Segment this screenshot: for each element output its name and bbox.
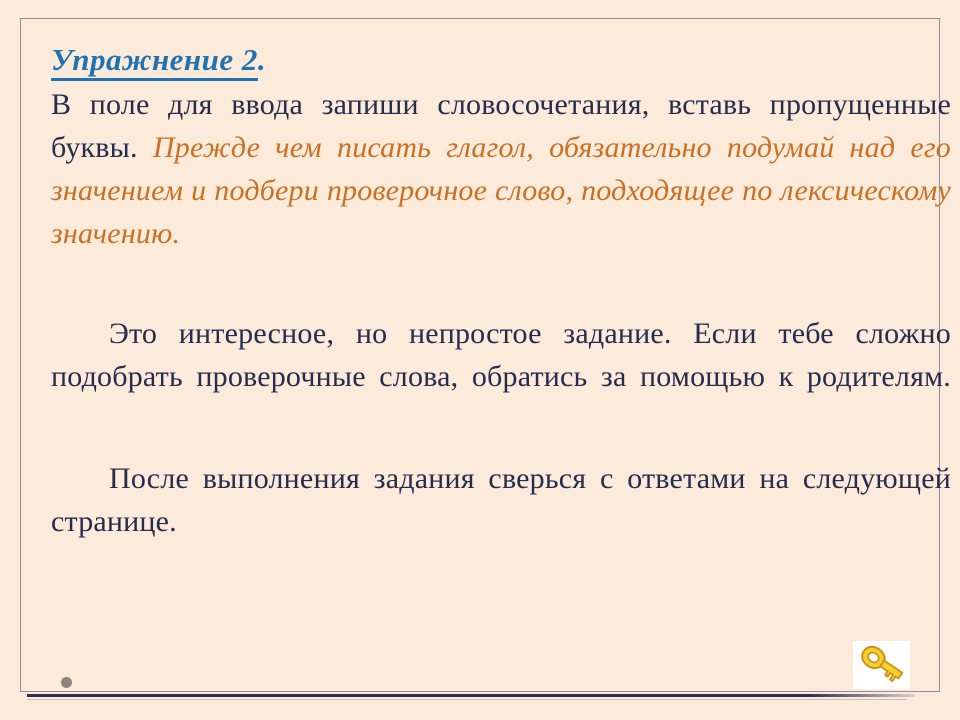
paragraph-check: После выполнения задания сверься с ответ… (51, 457, 951, 586)
bottom-rule (27, 694, 915, 697)
page-title: Упражнение 2. (51, 39, 951, 81)
page-title-period: . (258, 42, 266, 77)
page-title-underlined: Упражнение 2 (51, 42, 258, 81)
text-block: Упражнение 2. В поле для ввода запиши сл… (51, 39, 951, 586)
paragraph-note: Это интересное, но непростое задание. Ес… (51, 312, 951, 441)
bottom-rule-shadow (27, 699, 907, 700)
spacer-1 (51, 298, 951, 312)
paragraph-instruction: В поле для ввода запиши словосочетания, … (51, 83, 951, 298)
content-frame: Упражнение 2. В поле для ввода запиши сл… (20, 18, 940, 692)
key-icon (853, 641, 910, 689)
instruction-emphasis: Прежде чем писать глагол, обязательно по… (51, 131, 951, 250)
bullet-dot (61, 677, 72, 688)
spacer-2 (51, 441, 951, 457)
slide: Упражнение 2. В поле для ввода запиши сл… (0, 0, 960, 720)
